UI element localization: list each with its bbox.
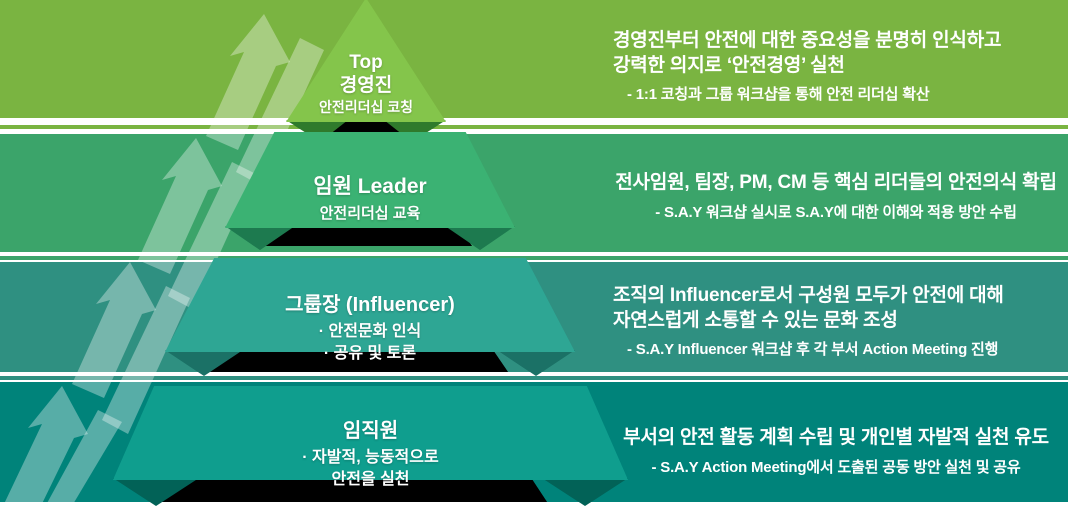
tier-3-label: 그룹장 (Influencer) · 안전문화 인식 · 공유 및 토론 (165, 270, 575, 388)
tier-2-label: 임원 Leader 안전리더십 교육 (225, 150, 515, 247)
tier-1-subtitle: 안전리더십 코칭 (286, 99, 446, 116)
gutter-2 (0, 252, 1068, 256)
tier-3-title: 그룹장 (Influencer) (285, 294, 455, 316)
gutter-1b (0, 129, 1068, 134)
tier-4-label: 임직원 · 자발적, 능동적으로 안전을 실천 (113, 396, 628, 514)
tier-1-title: Top 경영진 (340, 52, 392, 95)
description-2-note: - S.A.Y 워크샵 실시로 S.A.Y에 대한 이해와 적용 방안 수립 (613, 203, 1059, 223)
tier-4-subtitle: · 자발적, 능동적으로 안전을 실천 (113, 447, 628, 490)
tier-1-label: Top 경영진 안전리더십 코칭 (286, 30, 446, 138)
tier-4-title: 임직원 (343, 420, 398, 442)
description-4-note: - S.A.Y Action Meeting에서 도출된 공동 방안 실천 및 … (613, 458, 1059, 478)
description-employees: 부서의 안전 활동 계획 수립 및 개인별 자발적 실천 유도 - S.A.Y … (613, 425, 1059, 478)
description-3-note: - S.A.Y Influencer 워크샵 후 각 부서 Action Mee… (613, 340, 1059, 360)
tier-2-subtitle: 안전리더십 교육 (225, 205, 515, 223)
gutter-2b (0, 260, 1068, 262)
description-4-head: 부서의 안전 활동 계획 수립 및 개인별 자발적 실천 유도 (613, 425, 1059, 450)
description-executive-leader: 전사임원, 팀장, PM, CM 등 핵심 리더들의 안전의식 확립 - S.A… (613, 170, 1059, 223)
description-2-head: 전사임원, 팀장, PM, CM 등 핵심 리더들의 안전의식 확립 (613, 170, 1059, 195)
description-1-head: 경영진부터 안전에 대한 중요성을 분명히 인식하고 강력한 의지로 ‘안전경영… (613, 28, 1059, 79)
tier-3-subtitle: · 안전문화 인식 · 공유 및 토론 (165, 321, 575, 364)
gutter-1 (0, 118, 1068, 125)
description-3-head: 조직의 Influencer로서 구성원 모두가 안전에 대해 자연스럽게 소통… (613, 283, 1059, 334)
safety-pyramid-diagram: Top 경영진 안전리더십 코칭 임원 Leader 안전리더십 교육 그룹장 … (0, 0, 1068, 516)
tier-2-title: 임원 Leader (313, 175, 426, 198)
description-top-management: 경영진부터 안전에 대한 중요성을 분명히 인식하고 강력한 의지로 ‘안전경영… (613, 28, 1059, 104)
description-1-note: - 1:1 코칭과 그룹 워크샵을 통해 안전 리더십 확산 (613, 85, 1059, 105)
description-group-leader: 조직의 Influencer로서 구성원 모두가 안전에 대해 자연스럽게 소통… (613, 283, 1059, 359)
